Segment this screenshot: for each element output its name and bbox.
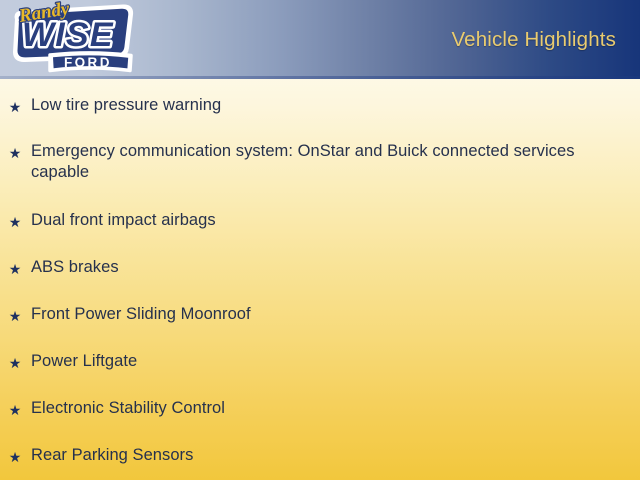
- highlight-item: ★Dual front impact airbags: [8, 210, 626, 233]
- highlight-item-label: Front Power Sliding Moonroof: [31, 304, 626, 325]
- star-icon: ★: [8, 352, 22, 374]
- vehicle-highlights-list: ★Low tire pressure warning★Emergency com…: [0, 79, 640, 480]
- star-icon: ★: [8, 305, 22, 327]
- page-header: WISE FORD Randy Vehicle Highlights: [0, 0, 640, 79]
- vehicle-highlights-page: WISE FORD Randy Vehicle Highlights ★Low …: [0, 0, 640, 480]
- star-icon: ★: [8, 258, 22, 280]
- highlight-item-label: Emergency communication system: OnStar a…: [31, 141, 626, 183]
- highlight-item: ★Front Power Sliding Moonroof: [8, 304, 626, 327]
- logo-ford-text: FORD: [64, 55, 112, 70]
- star-icon: ★: [8, 96, 22, 118]
- highlight-item-label: Rear Parking Sensors: [31, 445, 626, 466]
- highlight-item: ★ABS brakes: [8, 257, 626, 280]
- star-icon: ★: [8, 399, 22, 421]
- highlight-item-label: Power Liftgate: [31, 351, 626, 372]
- star-icon: ★: [8, 446, 22, 468]
- dealer-logo[interactable]: WISE FORD Randy: [4, 0, 138, 79]
- highlight-item: ★Emergency communication system: OnStar …: [8, 141, 626, 183]
- highlight-item: ★Low tire pressure warning: [8, 95, 626, 118]
- randy-wise-ford-logo-graphic: WISE FORD Randy: [4, 0, 138, 79]
- highlight-item: ★Rear Parking Sensors: [8, 445, 626, 468]
- highlight-item-label: Dual front impact airbags: [31, 210, 626, 231]
- highlight-item-label: ABS brakes: [31, 257, 626, 278]
- star-icon: ★: [8, 142, 22, 164]
- page-title: Vehicle Highlights: [451, 28, 616, 52]
- star-icon: ★: [8, 211, 22, 233]
- highlight-item-label: Electronic Stability Control: [31, 398, 626, 419]
- highlight-item: ★Power Liftgate: [8, 351, 626, 374]
- highlight-item: ★Electronic Stability Control: [8, 398, 626, 421]
- highlight-item-label: Low tire pressure warning: [31, 95, 626, 116]
